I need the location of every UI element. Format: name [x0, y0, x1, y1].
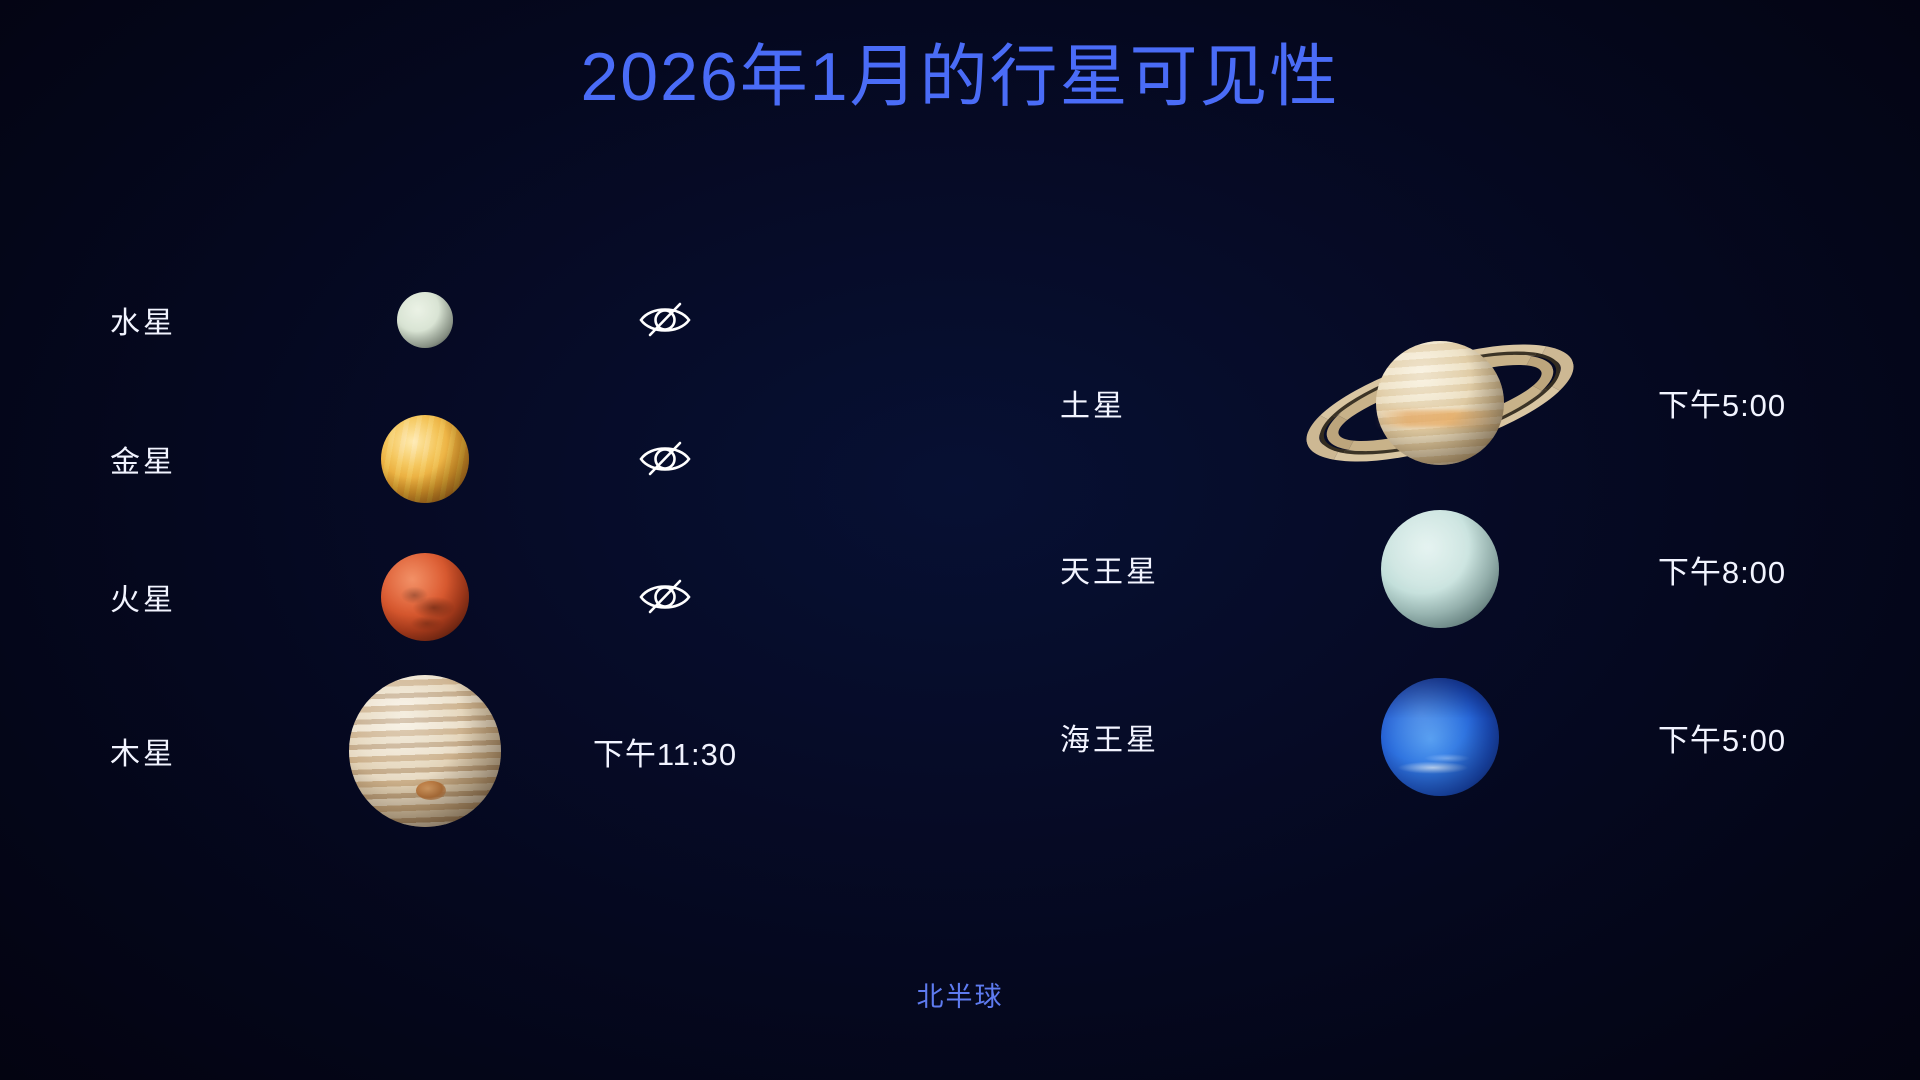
planet-label-jupiter: 木星 [110, 729, 310, 773]
planet-row-neptune[interactable]: 海王星 下午5:00 [1060, 653, 1850, 821]
eye-slash-icon [637, 575, 693, 619]
planet-time-uranus: 下午8:00 [1658, 547, 1786, 592]
planet-body-neptune [1290, 678, 1590, 796]
right-planet-column: 土星 下午5:00 天王星 [1060, 320, 1850, 821]
planet-time-jupiter: 下午11:30 [593, 729, 737, 774]
planet-status-neptune: 下午5:00 [1590, 715, 1840, 760]
jupiter-sphere [349, 675, 501, 827]
planet-status-mars [540, 575, 790, 619]
planet-row-uranus[interactable]: 天王星 下午8:00 [1060, 485, 1850, 653]
planet-row-mercury[interactable]: 水星 [110, 250, 830, 390]
saturn-sphere [1376, 341, 1504, 465]
planet-row-jupiter[interactable]: 木星 下午11:30 [110, 666, 830, 836]
planet-time-saturn: 下午5:00 [1658, 380, 1786, 425]
planet-label-mercury: 水星 [110, 298, 310, 342]
planet-body-mars [310, 553, 540, 641]
venus-sphere [381, 415, 469, 503]
saturn-cloud-bands [1376, 341, 1504, 465]
planet-status-mercury [540, 298, 790, 342]
planet-time-neptune: 下午5:00 [1658, 715, 1786, 760]
planet-status-uranus: 下午8:00 [1590, 547, 1840, 592]
planet-status-saturn: 下午5:00 [1590, 380, 1840, 425]
planet-label-venus: 金星 [110, 437, 310, 481]
neptune-sphere [1381, 678, 1499, 796]
uranus-sphere [1381, 510, 1499, 628]
planet-row-venus[interactable]: 金星 [110, 390, 830, 528]
planet-body-saturn [1290, 308, 1590, 498]
mars-sphere [381, 553, 469, 641]
planet-label-mars: 火星 [110, 575, 310, 619]
saturn-system [1290, 308, 1590, 498]
hemisphere-caption: 北半球 [0, 975, 1920, 1014]
planet-body-mercury [310, 292, 540, 348]
planet-label-uranus: 天王星 [1060, 547, 1290, 591]
page-title: 2026年1月的行星可见性 [0, 34, 1920, 120]
planet-label-neptune: 海王星 [1060, 715, 1290, 759]
planet-status-jupiter: 下午11:30 [540, 729, 790, 774]
venus-cloud-bands [381, 415, 469, 503]
eye-slash-icon [637, 437, 693, 481]
planet-row-saturn[interactable]: 土星 下午5:00 [1060, 320, 1850, 485]
planet-body-uranus [1290, 510, 1590, 628]
planet-body-venus [310, 415, 540, 503]
planet-visibility-infographic: 2026年1月的行星可见性 水星 金星 [0, 0, 1920, 1080]
eye-slash-icon [637, 298, 693, 342]
planet-label-saturn: 土星 [1060, 381, 1290, 425]
planet-body-jupiter [310, 675, 540, 827]
neptune-cloud-features [1381, 678, 1499, 796]
mars-surface-features [381, 553, 469, 641]
planet-row-mars[interactable]: 火星 [110, 528, 830, 666]
left-planet-column: 水星 金星 [110, 250, 830, 836]
jupiter-cloud-bands [349, 675, 501, 827]
planet-status-venus [540, 437, 790, 481]
saturn-equatorial-belt [1376, 410, 1504, 427]
mercury-sphere [397, 292, 453, 348]
